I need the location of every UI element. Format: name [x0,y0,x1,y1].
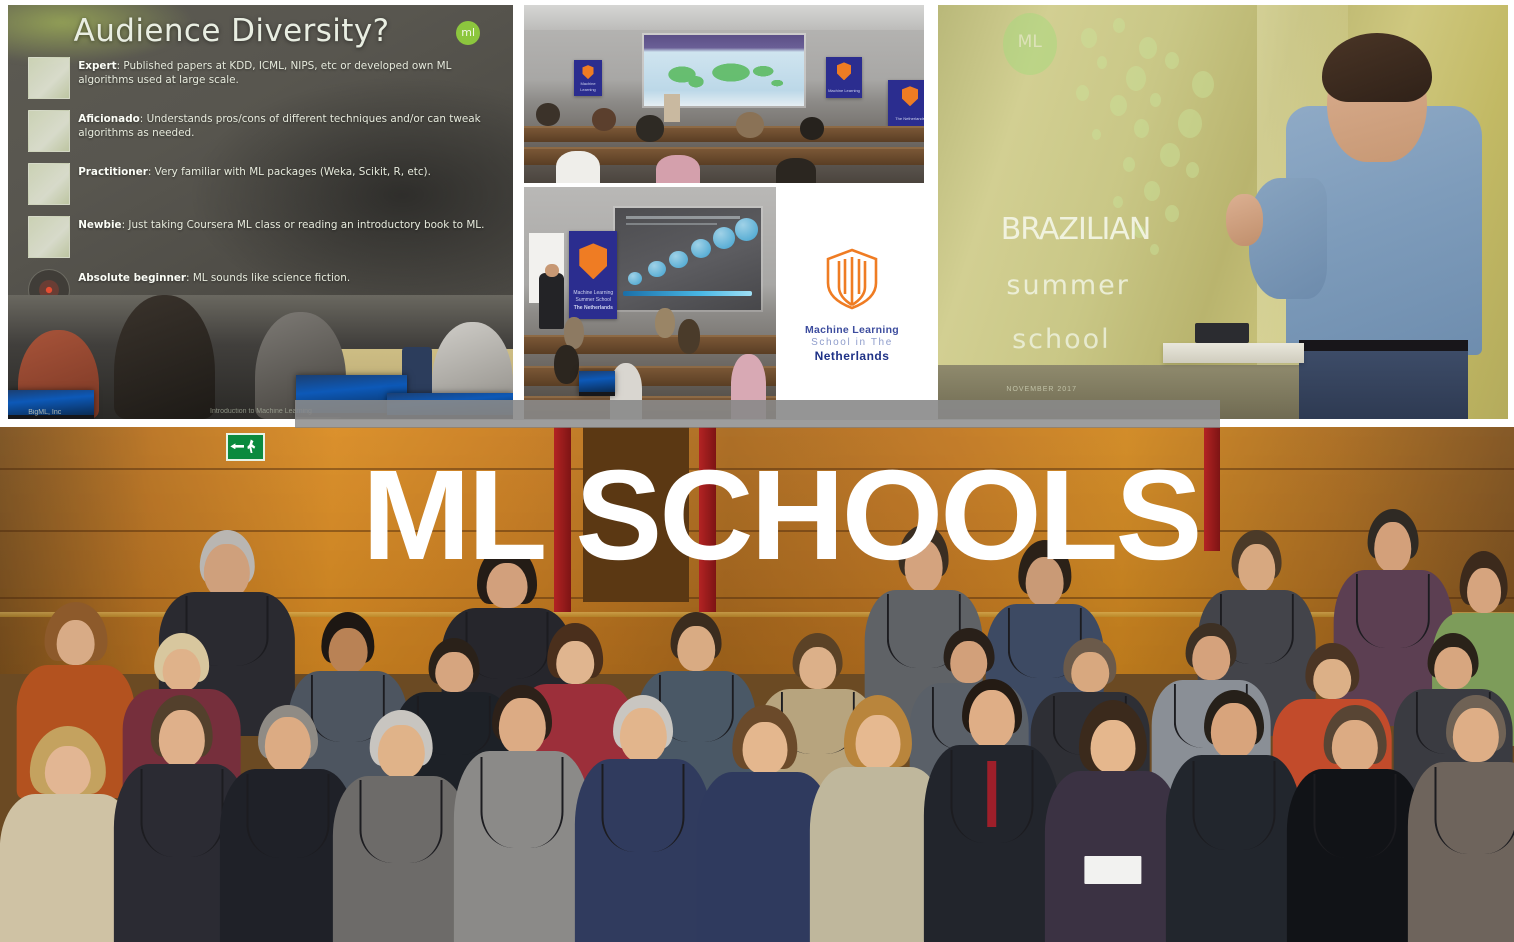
shield-icon [579,243,607,279]
ml-badge-icon: ml [456,21,480,45]
shield-icon [837,62,851,80]
audience-head [556,151,600,183]
diagram-bubble [648,261,666,277]
slide-row: Aficionado: Understands pros/cons of dif… [28,110,493,152]
nl-logo-line2: School in The [780,337,924,348]
school-banner: Machine Learning Summer School The Nethe… [569,231,617,319]
shield-icon [583,65,594,79]
audience-head [678,319,701,354]
overlay-band [295,400,1220,428]
slide-row: Practitioner: Very familiar with ML pack… [28,163,493,205]
ml-badge-icon: ML [1003,13,1057,75]
shield-icon [902,86,918,106]
brazil-date: NOVEMBER 2017 [1006,386,1077,393]
slide-row-text: Practitioner: Very familiar with ML pack… [78,163,493,179]
speaker-hand [1226,194,1262,246]
nl-logo-line3: Netherlands [780,349,924,363]
panel-lecture-hall-worldmap: Machine Learning Machine Learning The Ne… [524,5,924,183]
laptop-screen [579,371,614,396]
shield-icon [824,247,880,311]
person [333,710,469,942]
slide-row: Expert: Published papers at KDD, ICML, N… [28,57,493,99]
speaker-arm [1249,178,1327,298]
audience-head [655,308,675,338]
audience-head [776,158,816,183]
audience-head [554,345,579,384]
speaker-hair [1322,33,1431,101]
lectern-desk [1163,343,1304,363]
person [1045,700,1181,942]
slide-row-text: Newbie: Just taking Coursera ML class or… [78,216,493,232]
diagram-bubble [628,272,643,285]
speaker-figure [1263,17,1491,419]
banner-text: Machine Learning [574,81,602,93]
audience-head [114,295,215,419]
ml-schools-collage: Audience Diversity? ml Expert: Published… [0,0,1514,942]
slide-title-line [626,216,740,219]
panel-netherlands-logo: Machine Learning School in The Netherlan… [780,187,924,419]
person [575,695,711,942]
speaker-body [539,273,564,329]
school-banner: Machine Learning [574,60,602,96]
audience-head [592,108,616,131]
person [1166,690,1302,942]
world-map-graphic [654,58,795,91]
thumbnail-icon [28,57,70,99]
standing-speaker [664,94,680,122]
school-banner: The Netherlands [888,80,924,126]
audience-head [800,117,824,140]
slide-footer-brand: BigML, Inc [28,409,61,416]
slide-bullet-list: Expert: Published papers at KDD, ICML, N… [28,57,493,322]
panel-lecture-hall-speaker: Machine Learning Summer School The Nethe… [524,187,776,419]
banner-text: The Netherlands [888,116,924,122]
person [1408,695,1514,942]
audience-head [536,103,560,126]
diagram-progress-bar [623,291,752,296]
thumbnail-icon [28,216,70,258]
speaker-jeans [1299,351,1468,419]
laptop [1195,323,1250,343]
page-title: ML SCHOOLS [362,452,1199,580]
audience-head [656,155,700,183]
panel-brazilian-summer-school: ML BRAZILIAN summer school NOVE [938,5,1508,419]
brazil-title-line3: school [1012,324,1111,355]
banner-text: Machine Learning Summer School The Nethe… [569,290,617,313]
slide-row: Newbie: Just taking Coursera ML class or… [28,216,493,258]
slide-row-text: Aficionado: Understands pros/cons of dif… [78,110,493,141]
brazil-title-line2: summer [1006,270,1130,301]
thumbnail-icon [28,163,70,205]
diagram-bubble [735,218,758,240]
slide-heading: Audience Diversity? [74,13,390,49]
nl-logo-line1: Machine Learning [780,324,924,336]
person [454,685,590,942]
brazil-title-line1: BRAZILIAN [1001,212,1151,247]
person [924,679,1060,942]
bench-row [524,126,924,142]
slide-title-line [626,223,717,225]
school-banner: Machine Learning [826,57,862,98]
banner-text: Machine Learning [826,88,862,94]
slide-row-text: Absolute beginner: ML sounds like scienc… [78,269,493,285]
projection-screen: Audience Diversity? ml Expert: Published… [8,5,513,311]
necktie [987,761,997,827]
thumbnail-icon [28,110,70,152]
person [1287,705,1423,942]
nl-logo: Machine Learning School in The Netherlan… [780,247,924,363]
diagram-bubble [691,239,711,258]
slide-row-text: Expert: Published papers at KDD, ICML, N… [78,57,493,88]
ceiling [524,5,924,30]
panel-bigml-slide: Audience Diversity? ml Expert: Published… [8,5,513,419]
audience-head [636,115,664,142]
diagram-bubble [669,251,688,268]
diagram-bubble [713,227,735,248]
projection-screen-diagram [615,208,761,310]
audience-head [736,112,764,139]
